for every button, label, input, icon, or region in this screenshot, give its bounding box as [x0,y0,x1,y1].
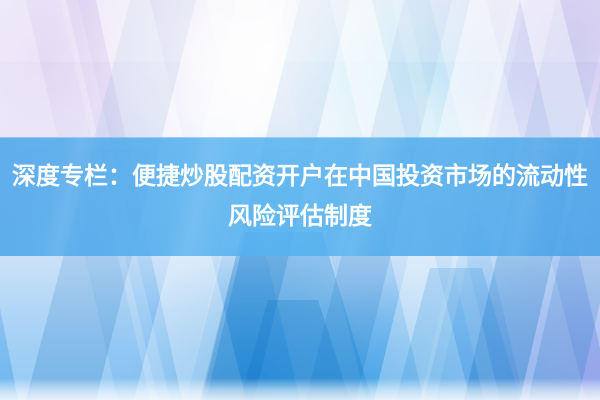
article-header-banner: 深度专栏：便捷炒股配资开户在中国投资市场的流动性风险评估制度 [0,0,600,400]
title-banner-strip: 深度专栏：便捷炒股配资开户在中国投资市场的流动性风险评估制度 [0,137,600,256]
page-title: 深度专栏：便捷炒股配资开户在中国投资市场的流动性风险评估制度 [8,157,592,237]
bottom-watermark [0,378,600,400]
title-banner-top-divider [0,137,600,138]
